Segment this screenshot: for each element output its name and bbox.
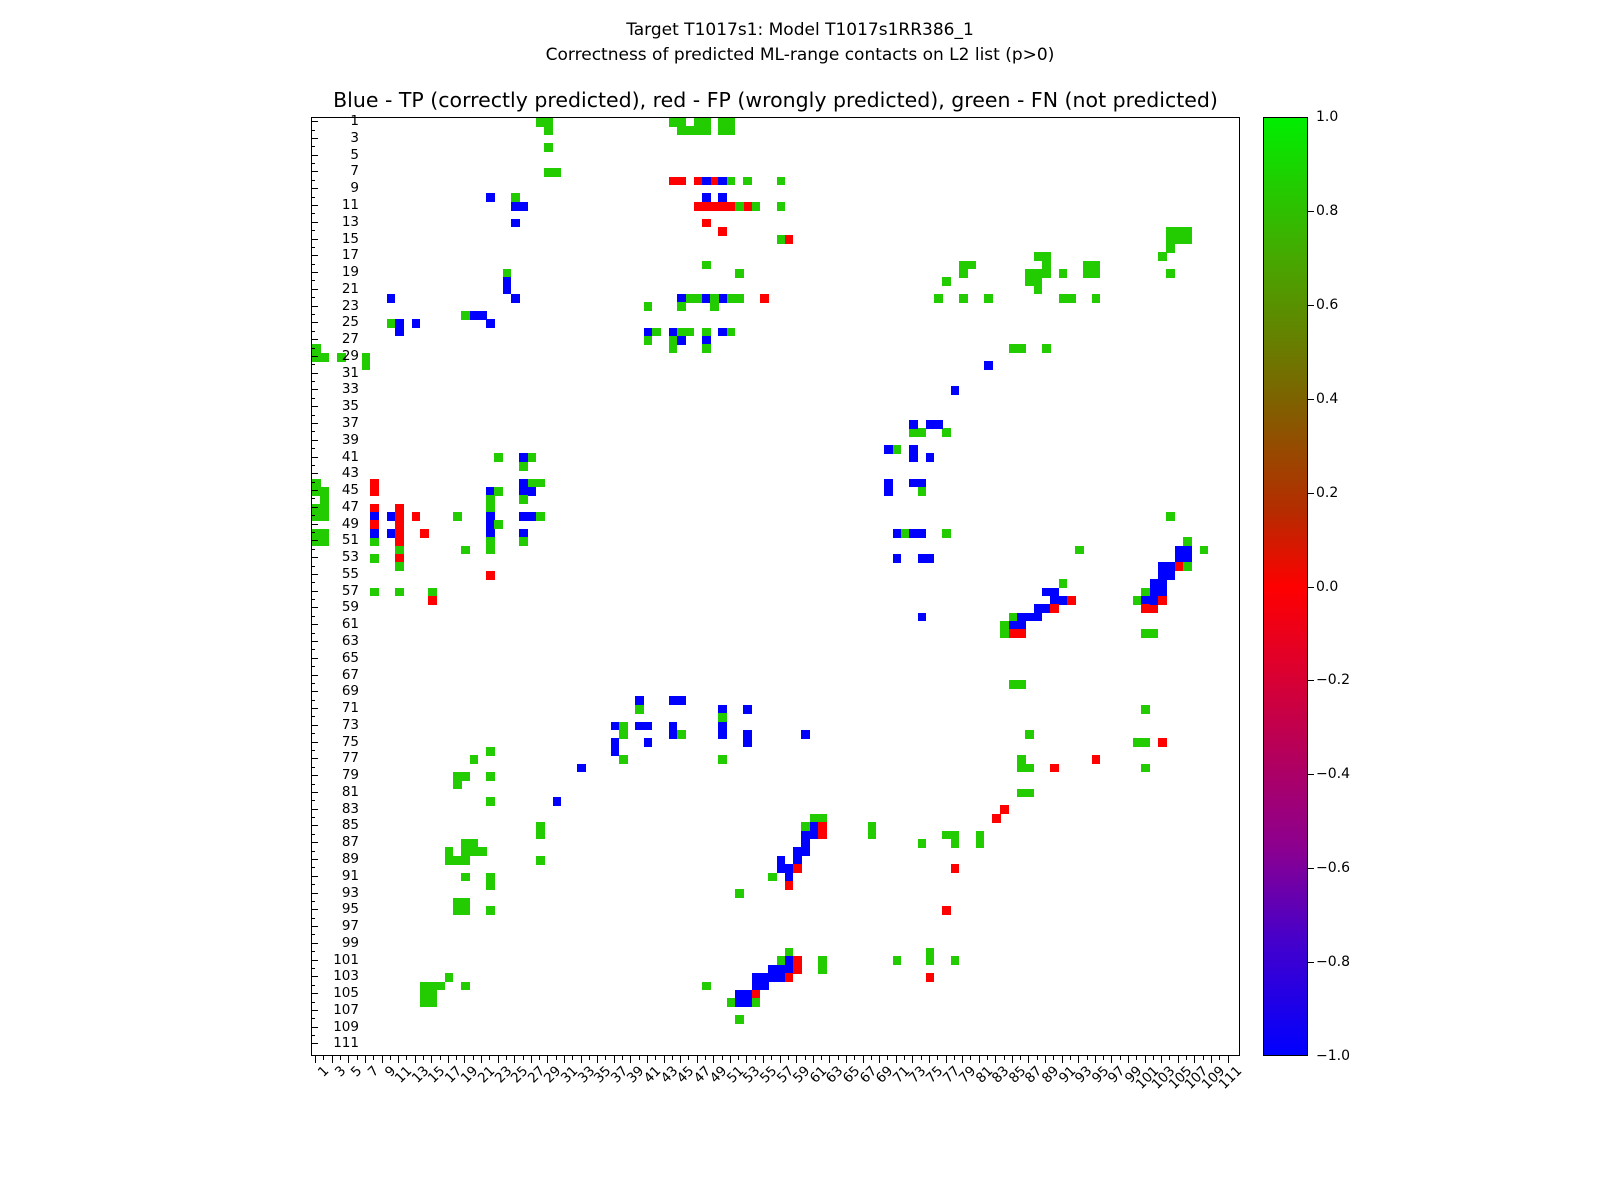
contact-cell-mirror [453, 780, 462, 789]
colorbar-gradient [1263, 117, 1308, 1056]
y-tick-mark [311, 389, 318, 390]
y-tick-mark [311, 398, 315, 399]
y-tick-mark [311, 1027, 318, 1028]
x-tick-label: 1 [315, 1063, 332, 1080]
contact-cell-mirror [528, 487, 537, 496]
x-tick-mark [1037, 1056, 1038, 1060]
contact-cell [511, 219, 520, 228]
y-tick-label: 13 [342, 214, 359, 230]
contact-cell-mirror [785, 235, 794, 244]
y-tick-mark [311, 733, 315, 734]
contact-cell [1059, 579, 1068, 588]
contact-cell [644, 738, 653, 747]
contact-cell [395, 504, 404, 521]
x-tick-mark [672, 1056, 673, 1060]
y-tick-mark [311, 800, 315, 801]
colorbar-tick-label: 0.8 [1316, 203, 1338, 219]
x-tick-mark [937, 1056, 938, 1060]
x-tick-mark [423, 1056, 424, 1060]
colorbar-tick-label: 1.0 [1316, 109, 1338, 125]
x-tick-mark [647, 1056, 648, 1063]
contact-cell [702, 982, 711, 991]
contact-cell-mirror [387, 294, 396, 303]
x-tick-label: 5 [348, 1063, 365, 1080]
contact-cell-mirror [793, 864, 802, 873]
y-tick-mark [311, 180, 315, 181]
y-tick-mark [311, 675, 318, 676]
y-tick-mark [311, 918, 315, 919]
contact-cell-mirror [1183, 546, 1192, 563]
x-tick-mark [1087, 1056, 1088, 1060]
contact-cell-mirror [702, 177, 711, 186]
contact-cell-mirror [976, 831, 985, 848]
colorbar-tick-mark [1308, 868, 1314, 869]
contact-cell [959, 294, 968, 303]
contact-cell [735, 998, 752, 1007]
y-tick-mark [311, 599, 315, 600]
contact-cell [743, 177, 752, 186]
contact-cell-mirror [494, 520, 503, 529]
contact-cell [486, 546, 495, 555]
contact-cell-mirror [544, 143, 553, 152]
y-tick-mark [311, 591, 318, 592]
contact-cell-mirror [370, 487, 379, 496]
contact-cell-mirror [884, 479, 893, 496]
x-tick-mark [639, 1056, 640, 1060]
y-tick-label: 97 [342, 918, 359, 934]
y-tick-mark [311, 700, 315, 701]
y-tick-mark [311, 842, 318, 843]
y-tick-mark [311, 322, 318, 323]
contact-cell [1025, 269, 1042, 286]
y-tick-mark [311, 255, 318, 256]
x-tick-mark [697, 1056, 698, 1063]
colorbar-tick-mark [1308, 962, 1314, 963]
contact-cell [918, 554, 935, 563]
x-tick-mark [1145, 1056, 1146, 1063]
contact-cell-mirror [1166, 512, 1175, 521]
contact-cell-mirror [951, 386, 960, 395]
contact-cell [909, 428, 926, 437]
y-tick-mark [311, 817, 315, 818]
x-tick-mark [854, 1056, 855, 1060]
colorbar-tick-label: −0.8 [1316, 954, 1350, 970]
contact-cell [727, 328, 736, 337]
contact-cell [752, 202, 761, 211]
x-tick-mark [464, 1056, 465, 1063]
contact-cell-mirror [702, 219, 711, 228]
y-tick-label: 59 [342, 599, 359, 615]
y-tick-label: 65 [342, 650, 359, 666]
x-tick-mark [1103, 1056, 1104, 1060]
y-tick-label: 79 [342, 767, 359, 783]
y-tick-label: 19 [342, 264, 359, 280]
y-tick-mark [311, 666, 315, 667]
x-tick-mark [746, 1056, 747, 1063]
y-tick-mark [311, 306, 318, 307]
contact-cell-mirror [918, 839, 927, 848]
y-tick-mark [311, 867, 315, 868]
y-tick-mark [311, 641, 318, 642]
y-tick-label: 41 [342, 449, 359, 465]
contact-cell-mirror [1092, 261, 1101, 270]
x-tick-mark [970, 1056, 971, 1060]
contact-cell [942, 428, 951, 437]
y-tick-mark [311, 1018, 315, 1019]
contact-cell [536, 856, 545, 865]
x-tick-mark [780, 1056, 781, 1063]
colorbar-tick-label: 0.6 [1316, 297, 1338, 313]
contact-cell-mirror [735, 889, 744, 898]
y-tick-mark [311, 649, 315, 650]
contact-cell-mirror [395, 520, 404, 537]
contact-cell [1042, 252, 1051, 278]
contact-cell [1075, 546, 1084, 555]
y-tick-label: 105 [333, 985, 359, 1001]
y-tick-label: 7 [350, 163, 359, 179]
y-tick-mark [311, 213, 315, 214]
y-tick-mark [311, 742, 318, 743]
contact-cell-mirror [412, 319, 421, 328]
y-tick-label: 51 [342, 532, 359, 548]
x-tick-mark [805, 1056, 806, 1060]
y-tick-mark [311, 985, 315, 986]
x-tick-mark [904, 1056, 905, 1060]
contact-cell [611, 738, 620, 755]
x-tick-mark [987, 1056, 988, 1060]
y-tick-mark [311, 683, 315, 684]
x-tick-mark [846, 1056, 847, 1063]
y-tick-label: 33 [342, 381, 359, 397]
contact-cell-mirror [486, 797, 495, 806]
contact-cell-mirror [951, 831, 960, 848]
y-tick-label: 109 [333, 1019, 359, 1035]
y-tick-mark [311, 373, 318, 374]
y-tick-label: 1 [350, 113, 359, 129]
y-tick-mark [311, 884, 315, 885]
x-tick-mark [630, 1056, 631, 1063]
colorbar-tick-label: −1.0 [1316, 1048, 1350, 1064]
contact-cell-mirror [312, 353, 329, 362]
contact-cell [718, 227, 727, 236]
x-tick-mark [572, 1056, 573, 1060]
x-tick-mark [1004, 1056, 1005, 1060]
y-tick-label: 21 [342, 281, 359, 297]
contact-cell [1050, 764, 1059, 773]
x-tick-mark [581, 1056, 582, 1063]
y-tick-mark [311, 825, 318, 826]
colorbar-tick-label: 0.0 [1316, 579, 1338, 595]
colorbar-tick-label: −0.2 [1316, 672, 1350, 688]
x-tick-mark [1053, 1056, 1054, 1060]
contact-cell [926, 948, 935, 965]
contact-cell-mirror [669, 177, 678, 186]
contact-cell-mirror [893, 445, 902, 454]
contact-cell-mirror [652, 328, 661, 337]
contact-cell-mirror [694, 118, 711, 135]
y-tick-mark [311, 624, 318, 625]
x-tick-mark [382, 1056, 383, 1063]
contact-cell [453, 512, 462, 521]
x-tick-mark [373, 1056, 374, 1060]
x-tick-mark [796, 1056, 797, 1063]
y-tick-mark [311, 851, 315, 852]
contact-cell-mirror [926, 453, 935, 462]
y-tick-label: 71 [342, 700, 359, 716]
contact-cell-mirror [677, 730, 686, 739]
x-tick-mark [962, 1056, 963, 1063]
contact-cell-mirror [644, 336, 653, 345]
contact-cell-mirror [743, 705, 752, 714]
contact-cell-mirror [984, 361, 993, 370]
contact-cell-mirror [735, 294, 744, 303]
contact-cell [453, 906, 462, 915]
x-tick-mark [506, 1056, 507, 1060]
contact-cell [918, 613, 927, 622]
contact-cell-mirror [644, 302, 653, 311]
colorbar-tick-mark [1308, 587, 1314, 588]
contact-cell [445, 973, 454, 982]
contact-cell-mirror [1141, 764, 1150, 773]
x-tick-mark [871, 1056, 872, 1060]
axes-title: Blue - TP (correctly predicted), red - F… [311, 88, 1240, 112]
x-tick-mark [340, 1056, 341, 1060]
contact-cell-mirror [785, 881, 794, 890]
y-tick-label: 63 [342, 633, 359, 649]
contact-cell-mirror [926, 420, 943, 429]
x-tick-mark [323, 1056, 324, 1060]
contact-cell [1009, 680, 1026, 689]
contact-cell-mirror [619, 755, 628, 764]
contact-cell-mirror [909, 479, 926, 488]
x-tick-mark [1095, 1056, 1096, 1063]
y-tick-mark [311, 239, 318, 240]
x-tick-mark [1161, 1056, 1162, 1063]
y-tick-label: 61 [342, 616, 359, 632]
y-tick-label: 73 [342, 717, 359, 733]
contact-cell-mirror [909, 420, 918, 429]
x-tick-label: 3 [332, 1063, 349, 1080]
contact-cell-mirror [395, 319, 404, 336]
y-tick-mark [311, 348, 315, 349]
x-tick-label: 7 [365, 1063, 382, 1080]
contact-cell-mirror [486, 571, 495, 580]
y-tick-label: 93 [342, 885, 359, 901]
contact-cell [461, 898, 470, 915]
y-tick-mark [311, 993, 318, 994]
contact-cell-mirror [992, 814, 1001, 823]
y-tick-mark [311, 130, 315, 131]
contact-cell-mirror [1141, 705, 1150, 714]
contact-cell [793, 956, 802, 973]
y-tick-label: 67 [342, 667, 359, 683]
contact-cell-mirror [710, 294, 719, 303]
contact-cell [370, 537, 379, 546]
contact-cell-mirror [669, 336, 678, 353]
contact-cell-mirror [1092, 294, 1101, 303]
contact-cell-mirror [511, 294, 520, 303]
contact-cell [1017, 764, 1034, 773]
contact-cell-mirror [1158, 596, 1167, 605]
y-tick-label: 95 [342, 901, 359, 917]
y-tick-mark [311, 171, 318, 172]
x-tick-mark [1211, 1056, 1212, 1063]
x-tick-mark [713, 1056, 714, 1063]
y-tick-label: 15 [342, 231, 359, 247]
y-tick-mark [311, 976, 318, 977]
contact-cell-mirror [420, 529, 429, 538]
x-tick-mark [448, 1056, 449, 1063]
x-tick-mark [655, 1056, 656, 1060]
y-tick-label: 77 [342, 750, 359, 766]
contact-cell [926, 973, 935, 982]
contact-cell-mirror [702, 261, 711, 270]
y-tick-label: 55 [342, 566, 359, 582]
contact-cell-mirror [486, 495, 495, 512]
y-tick-label: 5 [350, 147, 359, 163]
y-tick-label: 89 [342, 851, 359, 867]
contact-cell-mirror [428, 588, 437, 597]
x-tick-mark [1194, 1056, 1195, 1063]
contact-cell-mirror [362, 353, 371, 370]
x-tick-mark [1120, 1056, 1121, 1060]
contact-cell-mirror [951, 864, 960, 873]
contact-cell [785, 973, 794, 982]
y-tick-mark [311, 121, 318, 122]
y-tick-mark [311, 524, 318, 525]
y-tick-mark [311, 155, 318, 156]
y-tick-mark [311, 490, 318, 491]
x-tick-mark [1078, 1056, 1079, 1063]
contact-cell [486, 881, 495, 890]
contact-cell-mirror [702, 193, 711, 202]
y-tick-label: 9 [350, 180, 359, 196]
contact-cell-mirror [694, 202, 711, 211]
contact-cell-mirror [768, 873, 777, 882]
contact-cell-mirror [718, 755, 727, 764]
y-tick-mark [311, 498, 315, 499]
contact-cell-mirror [519, 537, 528, 546]
x-tick-mark [738, 1056, 739, 1060]
contact-cell-mirror [1083, 269, 1100, 278]
contact-cell-mirror [1166, 244, 1175, 253]
y-tick-label: 23 [342, 298, 359, 314]
x-tick-mark [1012, 1056, 1013, 1063]
y-tick-label: 37 [342, 415, 359, 431]
y-tick-mark [311, 515, 315, 516]
contact-map-plot-area[interactable] [311, 117, 1240, 1056]
y-tick-mark [311, 784, 315, 785]
y-tick-label: 91 [342, 868, 359, 884]
y-tick-label: 25 [342, 314, 359, 330]
x-tick-mark [1070, 1056, 1071, 1060]
y-tick-mark [311, 767, 315, 768]
y-tick-mark [311, 540, 318, 541]
x-tick-mark [547, 1056, 548, 1063]
contact-cell-mirror [718, 730, 727, 739]
contact-cell [760, 294, 769, 303]
x-tick-mark [614, 1056, 615, 1063]
y-tick-mark [311, 482, 315, 483]
contact-cell [486, 319, 495, 328]
x-tick-mark [1203, 1056, 1204, 1060]
y-tick-mark [311, 775, 318, 776]
x-tick-mark [440, 1056, 441, 1060]
y-tick-label: 85 [342, 817, 359, 833]
contact-cell-mirror [1009, 344, 1026, 353]
y-tick-mark [311, 960, 318, 961]
contact-cell-mirror [494, 487, 503, 496]
contact-cell [718, 118, 735, 135]
y-tick-mark [311, 146, 315, 147]
y-tick-mark [311, 893, 318, 894]
x-tick-mark [912, 1056, 913, 1063]
x-tick-mark [722, 1056, 723, 1060]
contact-cell [412, 512, 421, 521]
y-tick-mark [311, 532, 315, 533]
y-tick-mark [311, 272, 318, 273]
y-tick-label: 39 [342, 432, 359, 448]
colorbar-tick-mark [1308, 305, 1314, 306]
contact-cell-mirror [1158, 252, 1167, 261]
y-tick-label: 35 [342, 398, 359, 414]
x-tick-mark [1062, 1056, 1063, 1063]
contact-cell-mirror [868, 822, 877, 839]
contact-cell [685, 328, 694, 337]
contact-cell-mirror [486, 772, 495, 781]
contact-cell-mirror [370, 554, 379, 563]
y-tick-label: 57 [342, 583, 359, 599]
contact-cell-mirror [1059, 269, 1068, 278]
x-tick-mark [688, 1056, 689, 1060]
contact-cell [1050, 604, 1059, 613]
x-tick-mark [523, 1056, 524, 1060]
y-tick-mark [311, 465, 315, 466]
x-tick-mark [755, 1056, 756, 1060]
contact-cell [1025, 730, 1034, 739]
x-tick-mark [887, 1056, 888, 1060]
x-tick-mark [1045, 1056, 1046, 1063]
y-tick-label: 111 [333, 1035, 359, 1051]
contact-cell-mirror [486, 537, 495, 546]
contact-cell [942, 529, 951, 538]
contact-cell-mirror [727, 177, 736, 186]
contact-cell-mirror [1067, 294, 1076, 303]
contact-cell-mirror [1133, 738, 1150, 747]
y-tick-mark [311, 876, 318, 877]
y-tick-mark [311, 440, 318, 441]
colorbar-tick-mark [1308, 774, 1314, 775]
x-tick-mark [365, 1056, 366, 1063]
y-tick-mark [311, 197, 315, 198]
contact-cell [436, 982, 445, 991]
x-tick-mark [1169, 1056, 1170, 1060]
contact-cell [511, 202, 528, 211]
contact-cell-mirror [461, 839, 478, 856]
y-tick-mark [311, 934, 315, 935]
y-tick-mark [311, 247, 315, 248]
contact-cell [967, 261, 976, 270]
contact-cell-mirror [777, 202, 786, 211]
contact-cell [677, 336, 686, 345]
contact-cell-mirror [320, 487, 329, 504]
contact-cell [635, 705, 644, 714]
y-tick-label: 81 [342, 784, 359, 800]
y-tick-label: 99 [342, 935, 359, 951]
y-tick-mark [311, 1002, 315, 1003]
contact-cell [1067, 596, 1076, 605]
y-tick-label: 69 [342, 683, 359, 699]
